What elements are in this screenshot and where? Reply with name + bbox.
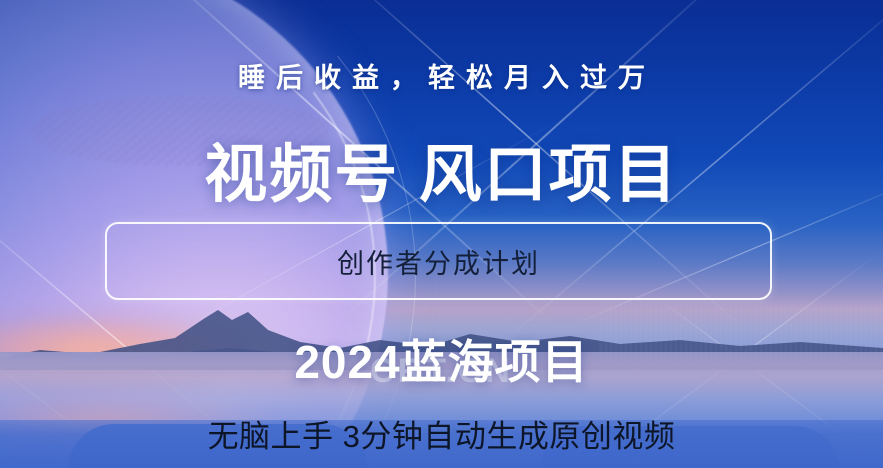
poster-content: 睡后收益，轻松月入过万 视频号 风口项目 创作者分成计划 CRT.CN 2024… [0,0,883,468]
subtitle-box: 创作者分成计划 [105,222,772,300]
footer-tagline: 无脑上手 3分钟自动生成原创视频 [0,411,883,456]
promo-poster: 睡后收益，轻松月入过万 视频号 风口项目 创作者分成计划 CRT.CN 2024… [0,0,883,468]
subtitle-box-label: 创作者分成计划 [337,242,540,281]
blue-ocean-headline: 2024蓝海项目 [0,326,883,392]
tagline-text: 睡后收益，轻松月入过万 [0,56,883,95]
page-title: 视频号 风口项目 [0,142,883,208]
